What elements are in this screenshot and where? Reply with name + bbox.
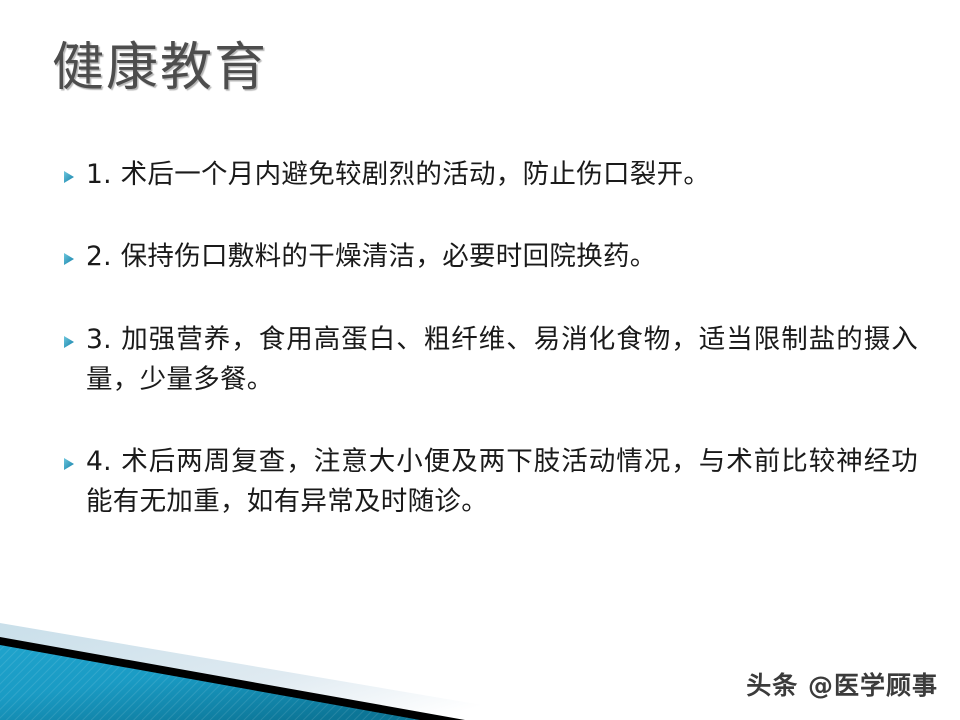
banner-light-band	[0, 623, 570, 720]
list-item-text: 3. 加强营养，食用高蛋白、粗纤维、易消化食物，适当限制盐的摄入量，少量多餐。	[86, 320, 918, 401]
watermark-text: 头条 @医学顾事	[746, 666, 938, 702]
banner-teal-texture	[0, 645, 420, 720]
bullet-list: 1. 术后一个月内避免较剧烈的活动，防止伤口裂开。 2. 保持伤口敷料的干燥清洁…	[62, 155, 918, 523]
list-item-text: 2. 保持伤口敷料的干燥清洁，必要时回院换药。	[86, 237, 918, 277]
list-item: 3. 加强营养，食用高蛋白、粗纤维、易消化食物，适当限制盐的摄入量，少量多餐。	[62, 320, 918, 401]
list-item: 4. 术后两周复查，注意大小便及两下肢活动情况，与术前比较神经功能有无加重，如有…	[62, 442, 918, 523]
list-item: 2. 保持伤口敷料的干燥清洁，必要时回院换药。	[62, 237, 918, 277]
triangle-right-icon	[62, 442, 86, 471]
page-title: 健康教育	[52, 40, 268, 96]
list-item: 1. 术后一个月内避免较剧烈的活动，防止伤口裂开。	[62, 155, 918, 195]
triangle-right-icon	[62, 155, 86, 184]
triangle-right-icon	[62, 237, 86, 266]
triangle-right-icon	[62, 320, 86, 349]
presentation-slide: 健康教育 1. 术后一个月内避免较剧烈的活动，防止伤口裂开。	[0, 0, 960, 720]
banner-teal-wedge	[0, 645, 420, 720]
list-item-text: 1. 术后一个月内避免较剧烈的活动，防止伤口裂开。	[86, 155, 918, 195]
banner-dark-stripe	[0, 637, 465, 720]
list-item-text: 4. 术后两周复查，注意大小便及两下肢活动情况，与术前比较神经功能有无加重，如有…	[86, 442, 918, 523]
